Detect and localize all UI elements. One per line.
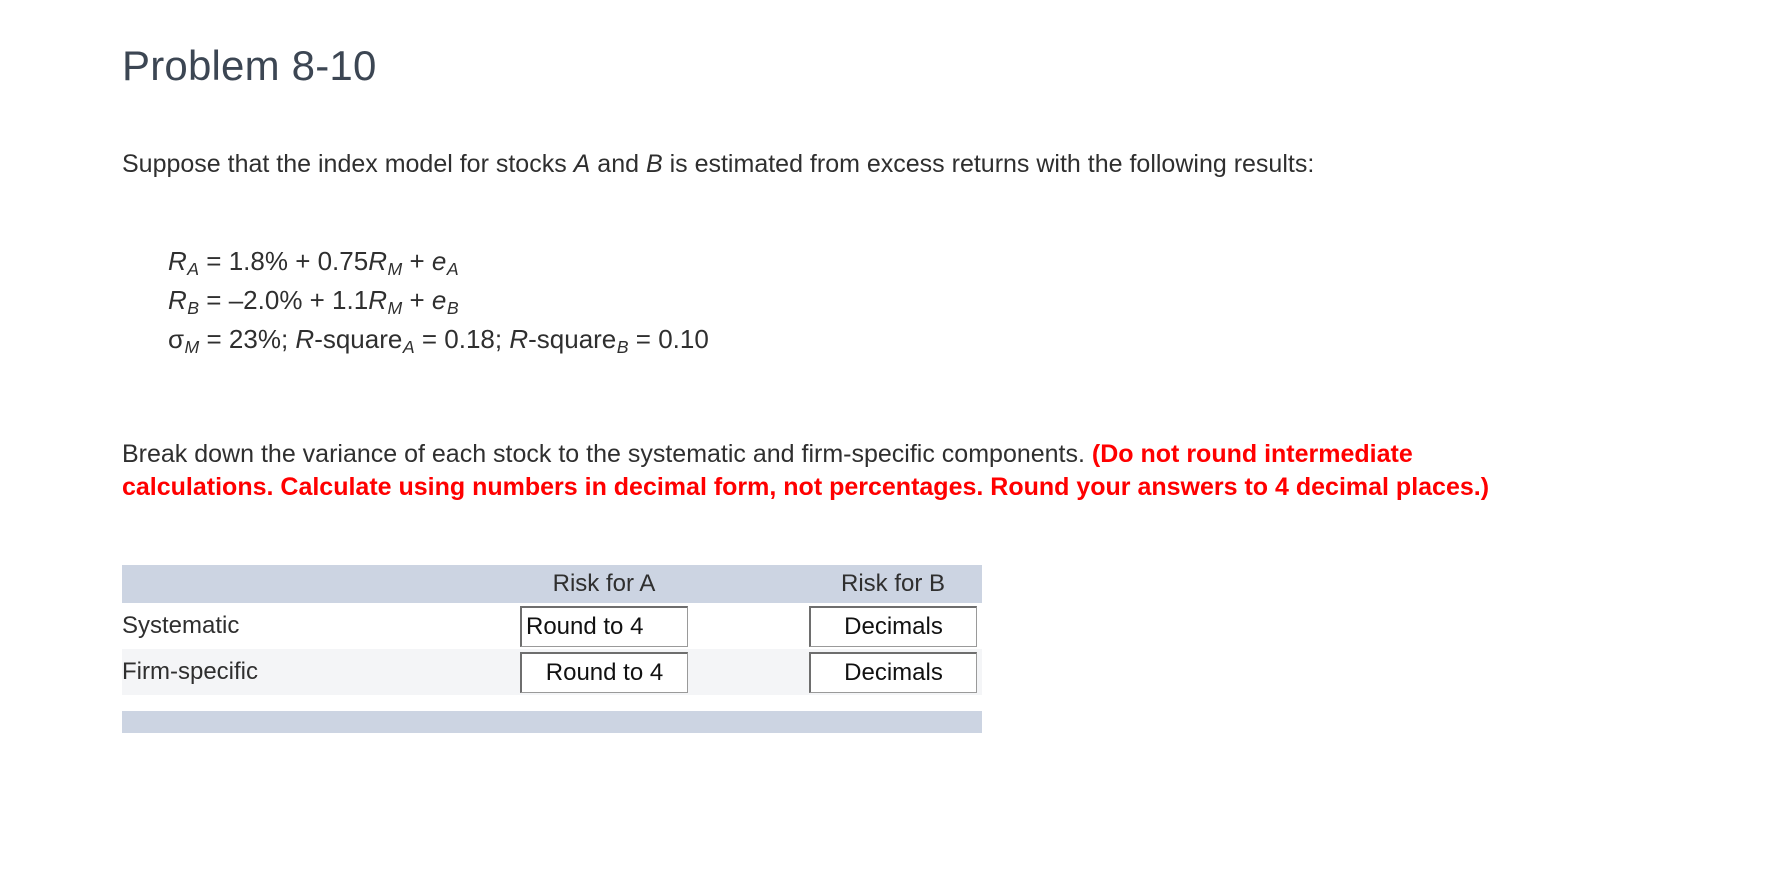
sigma-subscript: M	[184, 337, 199, 357]
intro-stock-b: B	[646, 150, 663, 178]
eq-a-residual-subscript: A	[446, 259, 458, 279]
eq-b-lhs-symbol: R	[168, 285, 187, 315]
input-firm-specific-risk-b[interactable]	[809, 652, 977, 693]
rsquare-a-word: -square	[314, 324, 402, 354]
intro-stock-a: A	[574, 150, 591, 178]
eq-b-residual-subscript: B	[446, 298, 458, 318]
equation-stock-b: RB = –2.0% + 1.1RM + eB	[168, 282, 1789, 321]
rsquare-b-value: = 0.10	[629, 324, 709, 354]
cell-systematic-risk-a[interactable]	[510, 603, 698, 649]
header-spacer	[698, 565, 804, 603]
intro-part3: is estimated from excess returns with th…	[663, 150, 1315, 178]
cell-firm-specific-risk-a[interactable]	[510, 649, 698, 695]
equations-block: RA = 1.8% + 0.75RM + eA RB = –2.0% + 1.1…	[168, 243, 1789, 360]
eq-a-expression: = 1.8% + 0.75	[199, 246, 368, 276]
eq-b-rm-symbol: R	[368, 285, 387, 315]
rsquare-b-word: -square	[528, 324, 616, 354]
cell-spacer-firm-specific	[698, 649, 804, 695]
header-risk-for-b: Risk for B	[804, 565, 982, 603]
input-systematic-risk-b[interactable]	[809, 606, 977, 647]
input-systematic-risk-a[interactable]	[520, 606, 688, 647]
sigma-symbol: σ	[168, 324, 184, 354]
eq-a-rm-subscript: M	[387, 259, 402, 279]
intro-part1: Suppose that the index model for stocks	[122, 150, 574, 178]
eq-b-lhs-subscript: B	[187, 298, 199, 318]
task-instruction: Break down the variance of each stock to…	[122, 438, 1567, 504]
row-label-systematic: Systematic	[122, 603, 510, 649]
eq-a-residual-symbol: e	[432, 246, 446, 276]
cell-systematic-risk-b[interactable]	[804, 603, 982, 649]
eq-a-plus: +	[402, 246, 432, 276]
intro-part2: and	[590, 150, 646, 178]
rsquare-a-subscript: A	[402, 337, 414, 357]
rsquare-a-symbol: R	[295, 324, 314, 354]
header-label-col	[122, 565, 510, 603]
cell-firm-specific-risk-b[interactable]	[804, 649, 982, 695]
eq-a-lhs-subscript: A	[187, 259, 199, 279]
eq-b-expression: = –2.0% + 1.1	[199, 285, 368, 315]
eq-a-lhs-symbol: R	[168, 246, 187, 276]
task-statement: Break down the variance of each stock to…	[122, 440, 1092, 468]
row-label-firm-specific: Firm-specific	[122, 649, 510, 695]
sigma-value: = 23%;	[199, 324, 295, 354]
equation-sigma-rsquare: σM = 23%; R-squareA = 0.18; R-squareB = …	[168, 321, 1789, 360]
problem-page: Problem 8-10 Suppose that the index mode…	[0, 0, 1789, 886]
rsquare-b-subscript: B	[616, 337, 628, 357]
answer-table-wrapper: Risk for A Risk for B Systematic Firm-sp…	[122, 565, 982, 733]
header-risk-for-a: Risk for A	[510, 565, 698, 603]
cell-spacer-systematic	[698, 603, 804, 649]
rsquare-a-value: = 0.18;	[415, 324, 510, 354]
eq-b-plus: +	[402, 285, 432, 315]
table-header-row: Risk for A Risk for B	[122, 565, 982, 603]
table-row: Systematic	[122, 603, 982, 649]
input-firm-specific-risk-a[interactable]	[520, 652, 688, 693]
eq-b-rm-subscript: M	[387, 298, 402, 318]
rsquare-b-symbol: R	[509, 324, 528, 354]
problem-intro-text: Suppose that the index model for stocks …	[122, 148, 1789, 181]
page-title: Problem 8-10	[122, 0, 1789, 90]
equation-stock-a: RA = 1.8% + 0.75RM + eA	[168, 243, 1789, 282]
table-footer-band	[122, 711, 982, 733]
eq-b-residual-symbol: e	[432, 285, 446, 315]
eq-a-rm-symbol: R	[368, 246, 387, 276]
answer-table: Risk for A Risk for B Systematic Firm-sp…	[122, 565, 982, 695]
table-row: Firm-specific	[122, 649, 982, 695]
